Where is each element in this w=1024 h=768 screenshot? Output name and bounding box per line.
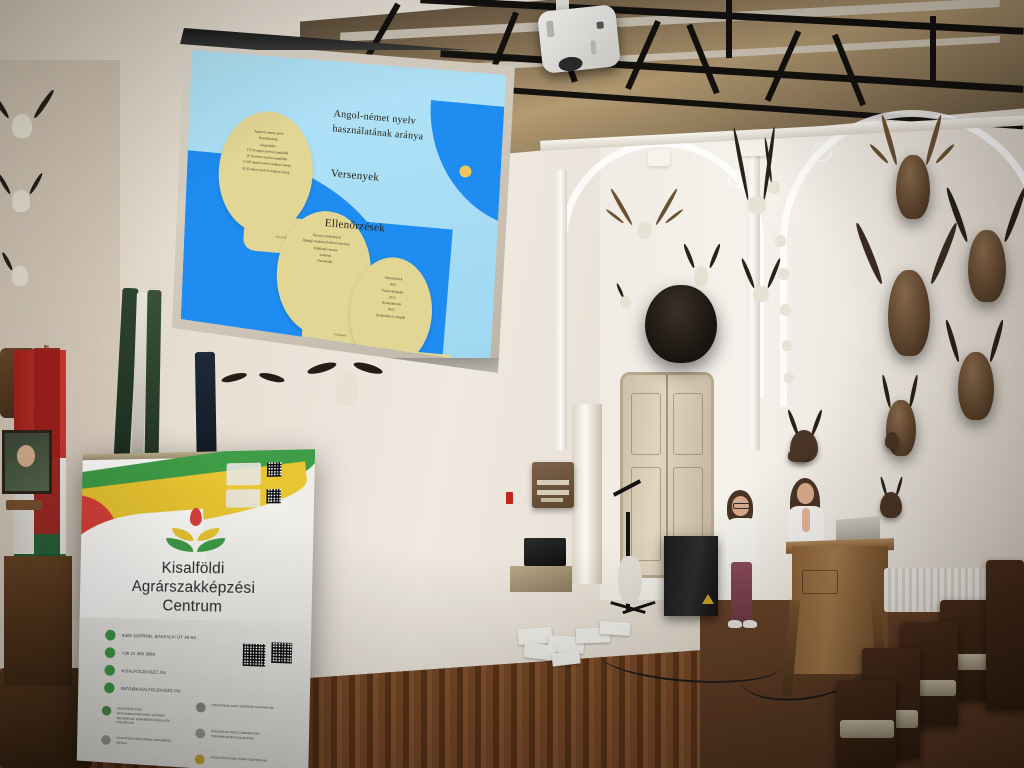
school-badge-icon [195, 754, 205, 765]
framed-portrait [2, 430, 52, 494]
logo-flame-icon [190, 508, 202, 526]
wooden-easel [4, 556, 72, 686]
slide-bubble-3-text: Ellenőrzések 2021 Üzemi látogatás 2022 B… [353, 272, 430, 323]
school-badge-icon [196, 702, 206, 712]
capital-ornament [648, 150, 670, 166]
shoe [728, 620, 742, 628]
slide-heading-2: Versenyek [330, 167, 379, 183]
fire-alarm [506, 492, 513, 504]
glasses-icon [733, 503, 750, 509]
bubble-3-line: Ellenőrzések [385, 276, 403, 282]
bubble-3-line: Bemutatkozás [382, 301, 401, 307]
bubble-3-line: 2023 [388, 308, 395, 313]
trophy-musk-ox-head [645, 285, 717, 363]
bubble-3-line: 2021 [390, 282, 397, 287]
projector-lens [558, 56, 583, 72]
bubble-1-line: megoszlása [260, 142, 276, 147]
pilaster [556, 170, 567, 450]
bubble-3-line: Gyakorlati és vizsgák [376, 313, 406, 320]
cardboard-box [510, 566, 572, 592]
torso [726, 518, 758, 564]
arm [802, 508, 810, 532]
chair[interactable] [836, 680, 896, 768]
roll-up-banner: Kisalföldi Agrárszakképzési Centrum 9400… [77, 449, 315, 768]
legs [731, 562, 752, 624]
projection-screen: Angol és német nyelv használatának megos… [168, 28, 518, 358]
pa-speaker [664, 536, 718, 616]
school-badge-icon [195, 728, 205, 739]
bubble-2-line: Nyelvtudás [317, 259, 333, 264]
truss-vertical [726, 0, 732, 58]
rosette-ornament [812, 142, 832, 162]
chair-seat [840, 720, 894, 738]
partner-logo [226, 463, 261, 486]
portrait-face [17, 445, 35, 467]
wall-control-panel[interactable] [532, 462, 574, 508]
door-panel [673, 393, 703, 455]
ceiling-projector [537, 4, 621, 74]
chair-foreground[interactable] [986, 560, 1024, 710]
presentation-hall-photo: Angol és német nyelv használatának megos… [0, 0, 1024, 768]
paper-sheet [600, 621, 631, 636]
truss-vertical [930, 16, 936, 86]
wall-label-plaque [6, 500, 42, 510]
bubble-2-line: Szakmai [319, 253, 331, 258]
screen-roller-case [174, 28, 522, 50]
org-line-3: Centrum [80, 596, 312, 620]
qr-code [243, 644, 266, 667]
partner-qr [267, 462, 282, 477]
shoe [743, 620, 757, 628]
slide-bubble-1-text: Angol és német nyelv használatának megos… [227, 126, 308, 177]
cloth-bag [618, 556, 642, 604]
head [797, 483, 814, 504]
member-school-entry: KISALFÖLDI ASZC MOSONMAGYARÓVÁRI ULLMANN… [117, 706, 177, 728]
organization-name: Kisalföldi Agrárszakképzési Centrum [80, 559, 313, 619]
bubble-3-line: Üzemi látogatás [382, 288, 404, 294]
partner-logo [226, 489, 261, 508]
school-badge-icon [102, 706, 112, 716]
bubble-1-line: használatának [259, 136, 278, 142]
school-badge-icon [101, 735, 111, 745]
organization-logo [162, 514, 230, 558]
lectern-panel [802, 570, 838, 594]
ceremonial-sash [145, 290, 162, 462]
screen-surface: Angol és német nyelv használatának megos… [168, 28, 518, 358]
slide-content: Angol és német nyelv használatának megos… [168, 28, 517, 358]
interior-column [572, 404, 602, 584]
bubble-2-line: Elődöntő verseny [314, 246, 338, 252]
qr-code [271, 642, 292, 663]
av-equipment-box [524, 538, 566, 566]
bubble-3-line: 2022 [389, 295, 396, 300]
speaker-brand-logo [702, 594, 714, 604]
door-panel [631, 393, 661, 455]
bubble-2-line: Ifjúsági Szakmai Énekversenyeken [302, 238, 350, 246]
partner-qr [266, 489, 281, 503]
